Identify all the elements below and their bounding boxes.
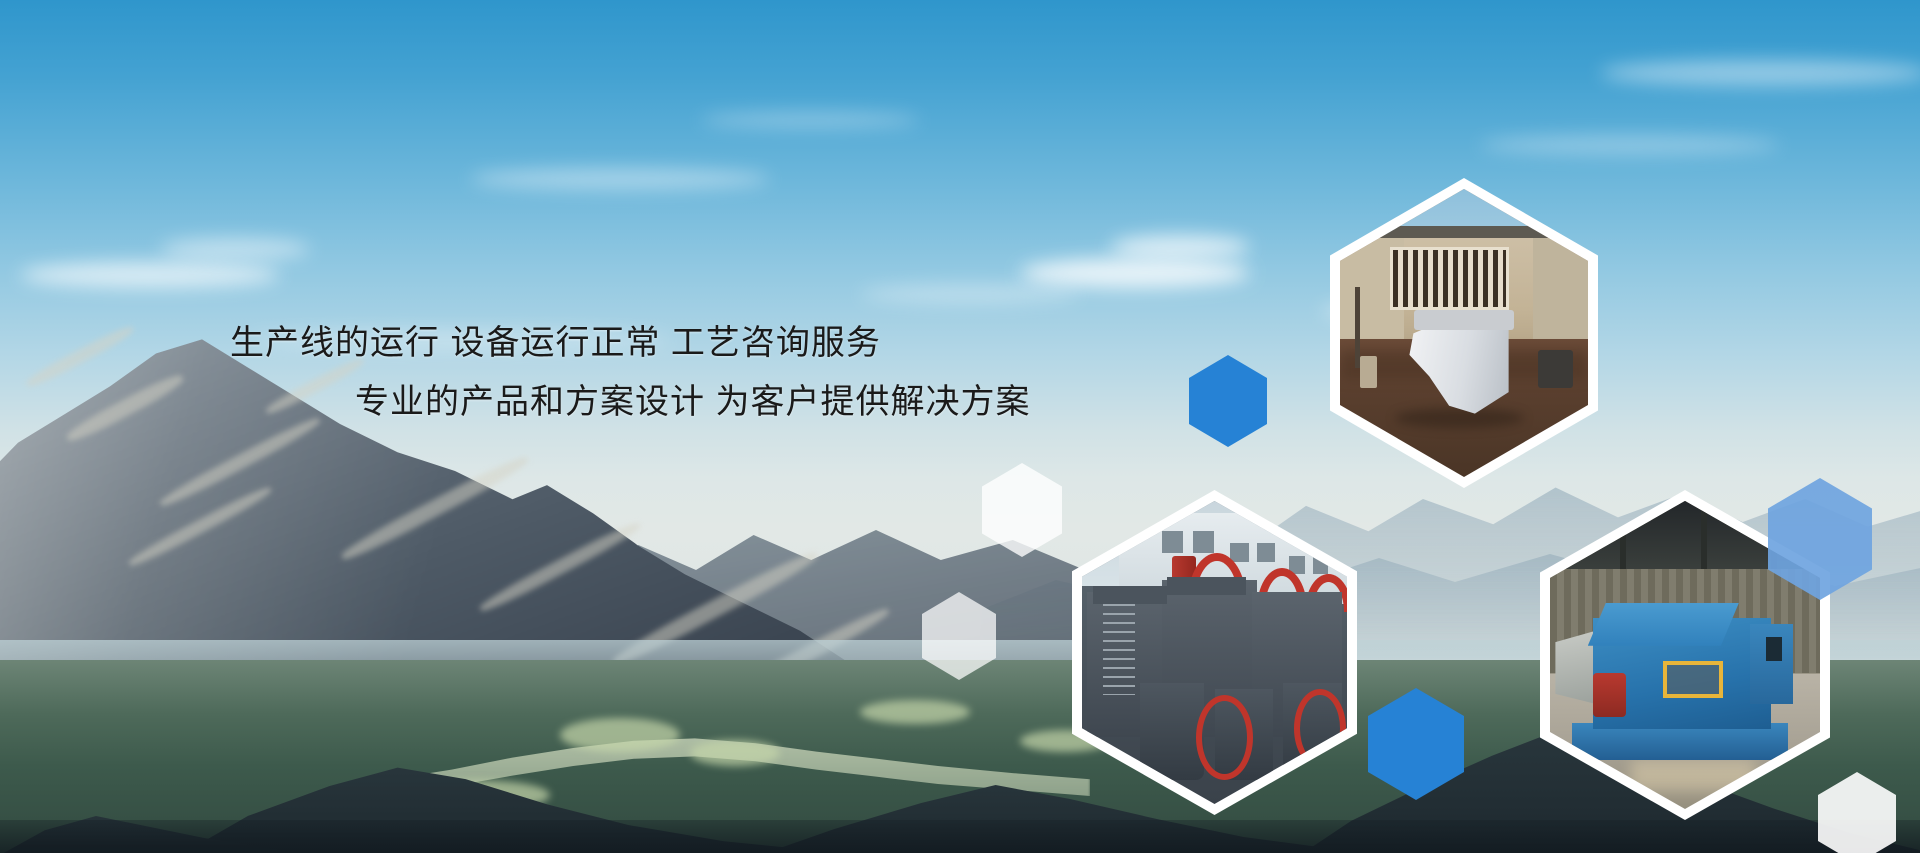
ladle-photo-canvas <box>1340 189 1588 477</box>
meadow-patch <box>690 740 780 766</box>
press-cylinder <box>1140 683 1204 780</box>
headline-line-2: 专业的产品和方案设计 为客户提供解决方案 <box>355 385 960 419</box>
building-wall <box>1533 229 1588 338</box>
floor-highlight <box>1631 760 1755 791</box>
press-frame <box>1167 577 1247 595</box>
cabinet-window <box>1766 637 1782 662</box>
hex-photo-press-image <box>1082 501 1347 804</box>
cloud-shape <box>1480 135 1780 155</box>
cloud-shape <box>1600 60 1920 86</box>
press-frame <box>1093 586 1167 604</box>
crate <box>1538 350 1573 387</box>
ladle-machine <box>1409 316 1508 414</box>
cloud-shape <box>700 112 920 128</box>
ladder <box>1103 604 1135 695</box>
roof-beam <box>1701 507 1706 575</box>
factory-window <box>1162 531 1183 552</box>
press-photo-canvas <box>1082 501 1347 804</box>
cloud-shape <box>160 238 310 260</box>
ladle-rim <box>1414 310 1513 330</box>
foreground-shadow <box>0 820 1920 853</box>
factory-window <box>1257 543 1276 561</box>
cloud-shape <box>20 262 280 288</box>
drive-motor <box>1593 673 1625 716</box>
cloud-shape <box>1110 235 1250 259</box>
machine-shadow <box>1395 408 1524 428</box>
cloud-shape <box>470 168 770 190</box>
hero-banner: 生产线的运行 设备运行正常 工艺咨询服务 专业的产品和方案设计 为客户提供解决方… <box>0 0 1920 853</box>
factory-window <box>1313 556 1329 574</box>
yellow-guard-frame <box>1663 661 1722 698</box>
factory-window <box>1193 531 1214 552</box>
barrel <box>1360 356 1377 388</box>
window-grill <box>1390 247 1509 310</box>
meadow-patch <box>560 718 680 752</box>
red-handwheel <box>1196 695 1253 780</box>
cloud-shape <box>860 285 1080 303</box>
utility-pole <box>1355 287 1360 368</box>
meadow-patch <box>860 700 970 724</box>
cloud-shape <box>1020 258 1250 288</box>
headline-block: 生产线的运行 设备运行正常 工艺咨询服务 专业的产品和方案设计 为客户提供解决方… <box>200 326 960 419</box>
factory-window <box>1230 543 1249 561</box>
headline-line-1: 生产线的运行 设备运行正常 工艺咨询服务 <box>230 326 960 360</box>
shredder-hopper <box>1588 603 1739 646</box>
hex-photo-ladle-image <box>1340 189 1588 477</box>
